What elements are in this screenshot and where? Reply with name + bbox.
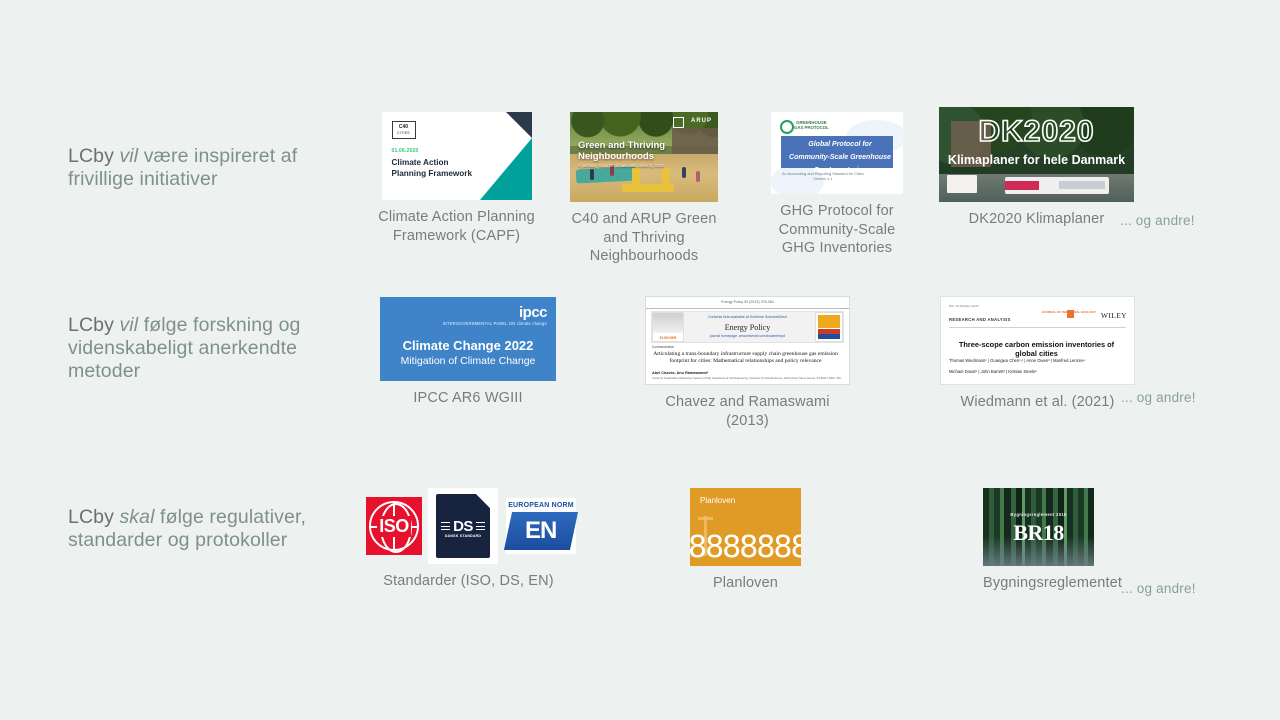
item-chavez[interactable]: Energy Policy 54 (2013) 376-384 Contents… <box>645 296 850 430</box>
item-gtn[interactable]: ARUP Green and Thriving Neighbourhoods A… <box>564 112 724 266</box>
thumbnail-br18[interactable]: Bygningsreglement 2018 BR18 <box>983 488 1094 566</box>
photo-person-1 <box>590 169 594 180</box>
slide-canvas: LCby vil være inspireret af frivillige i… <box>0 0 1280 720</box>
wiedmann-authors-line2: Michael Doust⁵ | John Barrett³ | Kristia… <box>949 369 1037 374</box>
paper-rule <box>646 308 849 309</box>
arup-logo-text: ARUP <box>691 118 712 124</box>
thumbnail-planloven[interactable]: Planloven 88888888888 <box>690 488 801 566</box>
caption-wiedmann: Wiedmann et al. (2021) <box>940 393 1135 412</box>
thumbnail-standards[interactable]: ISO DS DANSK STANDARD EUROPEAN NORM EN <box>356 488 581 564</box>
paper-title: Articulating a trans-boundary infrastruc… <box>652 351 839 365</box>
planloven-title: Planloven <box>700 496 735 505</box>
photo-yellow-post-2 <box>662 168 670 184</box>
journal-cover-thumbnail <box>815 312 843 342</box>
en-logo-top-text: EUROPEAN NORM <box>506 498 576 512</box>
ghg-footer-line2: Version 1.1 <box>813 177 832 181</box>
ipcc-title: Climate Change 2022 <box>380 338 556 353</box>
row-1-label-emphasis: vil <box>119 145 138 167</box>
corner-accent-icon <box>506 112 532 138</box>
row-label-3: LCby skal følge regulativer, standarder … <box>68 506 368 552</box>
dk2020-title: DK2020 <box>939 115 1134 149</box>
c40-logo-subtext: CITIES <box>397 130 410 136</box>
ghg-brand-line2: GAS PROTOCOL <box>794 125 829 130</box>
row-3-label-lead: LCby <box>68 506 119 528</box>
caption-capf: Climate Action Planning Framework (CAPF) <box>375 208 538 245</box>
en-logo-text: EN <box>525 517 556 545</box>
ds-logo-icon: DS DANSK STANDARD <box>428 488 498 564</box>
ipcc-logo-subtext: INTERGOVERNMENTAL PANEL ON climate chang… <box>443 321 547 326</box>
paper-authors: Abel Chavez, Anu Ramaswami* <box>652 371 708 375</box>
iso-logo-icon: ISO <box>366 497 422 555</box>
en-logo-icon: EUROPEAN NORM EN <box>506 498 576 554</box>
thumbnail-gtn[interactable]: ARUP Green and Thriving Neighbourhoods A… <box>570 112 718 202</box>
item-capf[interactable]: C40 CITIES 01.06.2020 Climate Action Pla… <box>375 112 538 245</box>
triangle-accent-icon <box>480 138 532 200</box>
br18-title: BR18 <box>983 520 1094 546</box>
ghg-title-line2: Community-Scale Greenhouse <box>787 153 893 162</box>
ghg-footer-line1: An Accounting and Reporting Standard for… <box>782 172 864 176</box>
item-wiedmann[interactable]: DOI: 10.1111/jiec.13143 RESEARCH AND ANA… <box>940 296 1135 412</box>
photo-yellow-bench <box>622 184 674 192</box>
scale-beam-icon <box>698 517 713 520</box>
gtn-title-line2: Neighbourhoods <box>578 151 654 162</box>
photo-person-3 <box>682 167 686 178</box>
ghg-title-line1: Global Protocol for <box>787 140 893 149</box>
planloven-pattern: 88888888888 <box>690 534 801 562</box>
row-1-more-label[interactable]: ... og andre! <box>1120 213 1195 228</box>
thumbnail-capf[interactable]: C40 CITIES 01.06.2020 Climate Action Pla… <box>382 112 532 200</box>
caption-standards: Standarder (ISO, DS, EN) <box>356 572 581 591</box>
gtn-subtitle: A pathway towards climate-safe cities by… <box>578 163 664 168</box>
en-logo-shape: EN <box>504 512 578 550</box>
row-2-label-emphasis: vil <box>119 314 138 336</box>
dk2020-subtitle: Klimaplaner for hele Danmark <box>939 153 1134 167</box>
photo-person-4 <box>696 171 700 182</box>
row-3-more-label[interactable]: ... og andre! <box>1121 581 1196 596</box>
caption-ghg-protocol: GHG Protocol for Community-Scale GHG Inv… <box>766 202 908 258</box>
wiedmann-section-label: RESEARCH AND ANALYSIS <box>949 317 1011 322</box>
item-ghg-protocol[interactable]: GREENHOUSE GAS PROTOCOL Global Protocol … <box>766 112 908 258</box>
thumbnail-wiedmann-paper[interactable]: DOI: 10.1111/jiec.13143 RESEARCH AND ANA… <box>940 296 1135 385</box>
ds-logo-text: DS <box>436 518 490 535</box>
cover-band-1 <box>818 315 840 328</box>
thumbnail-ipcc[interactable]: ipcc INTERGOVERNMENTAL PANEL ON climate … <box>380 297 556 381</box>
caption-chavez: Chavez and Ramaswami (2013) <box>645 393 850 430</box>
paper-section-label: Communication <box>652 345 674 349</box>
ipcc-logo-text: ipcc <box>519 304 547 321</box>
elsevier-logo-icon: ELSEVIER <box>652 312 684 342</box>
wiley-logo-text: WILEY <box>1101 311 1127 320</box>
row-2-more-label[interactable]: ... og andre! <box>1121 390 1196 405</box>
capf-title-line2: Planning Framework <box>392 169 473 178</box>
arup-mark-icon <box>673 117 684 128</box>
ds-logo-subtext: DANSK STANDARD <box>436 534 490 538</box>
capf-title-line1: Climate Action <box>392 158 449 167</box>
cover-band-3 <box>818 334 840 339</box>
row-1-label-lead: LCby <box>68 145 119 167</box>
photo-tram <box>1005 177 1109 194</box>
ipcc-subtitle: Mitigation of Climate Change <box>380 355 556 367</box>
item-br18[interactable]: Bygningsreglement 2018 BR18 Bygningsregl… <box>983 488 1094 593</box>
item-planloven[interactable]: Planloven 88888888888 Planloven <box>690 488 801 593</box>
elsevier-logo-text: ELSEVIER <box>653 336 683 340</box>
thumbnail-dk2020[interactable]: DK2020 Klimaplaner for hele Danmark <box>939 107 1134 202</box>
paper-affiliation: Center for Sustainable Infrastructure Sy… <box>652 377 841 380</box>
caption-dk2020: DK2020 Klimaplaner <box>939 210 1134 229</box>
photo-bus <box>947 175 977 193</box>
caption-gtn: C40 and ARUP Green and Thriving Neighbou… <box>564 210 724 266</box>
ghg-protocol-logo-icon <box>780 120 794 134</box>
wiedmann-authors-line1: Thomas Wiedmann¹ | Guangwu Chen¹,² | Ann… <box>949 358 1085 363</box>
wiedmann-title: Three-scope carbon emission inventories … <box>949 340 1124 358</box>
thumbnail-chavez-paper[interactable]: Energy Policy 54 (2013) 376-384 Contents… <box>645 296 850 385</box>
item-standards[interactable]: ISO DS DANSK STANDARD EUROPEAN NORM EN S… <box>356 488 581 591</box>
photo-yellow-post-1 <box>632 168 640 184</box>
caption-planloven: Planloven <box>690 574 801 593</box>
br18-small-title: Bygningsreglement 2018 <box>983 512 1094 517</box>
jie-logo-text: JOURNAL OF INDUSTRIAL ECOLOGY <box>1042 311 1096 315</box>
row-3-label-emphasis: skal <box>119 506 154 528</box>
caption-ipcc: IPCC AR6 WGIII <box>380 389 556 408</box>
ghg-title-band: Global Protocol for Community-Scale Gree… <box>781 136 893 168</box>
thumbnail-ghg-protocol[interactable]: GREENHOUSE GAS PROTOCOL Global Protocol … <box>771 112 903 194</box>
row-2-label-lead: LCby <box>68 314 119 336</box>
ghg-brand-text: GREENHOUSE GAS PROTOCOL <box>794 120 829 130</box>
capf-date: 01.06.2020 <box>392 148 419 154</box>
ghg-footer: An Accounting and Reporting Standard for… <box>782 172 864 182</box>
item-dk2020[interactable]: DK2020 Klimaplaner for hele Danmark DK20… <box>939 107 1134 229</box>
row-label-1: LCby vil være inspireret af frivillige i… <box>68 145 368 191</box>
row-label-2: LCby vil følge forskning og videnskabeli… <box>68 314 368 383</box>
wiedmann-rule <box>949 327 1126 328</box>
gtn-title-line1: Green and Thriving <box>578 140 665 151</box>
paper-running-head: Energy Policy 54 (2013) 376-384 <box>646 300 849 304</box>
c40-logo-icon: C40 CITIES <box>392 121 416 139</box>
caption-br18: Bygningsreglementet <box>983 574 1094 593</box>
wiedmann-doi: DOI: 10.1111/jiec.13143 <box>949 304 979 308</box>
iso-logo-text: ISO <box>377 516 411 537</box>
item-ipcc[interactable]: ipcc INTERGOVERNMENTAL PANEL ON climate … <box>380 297 556 408</box>
